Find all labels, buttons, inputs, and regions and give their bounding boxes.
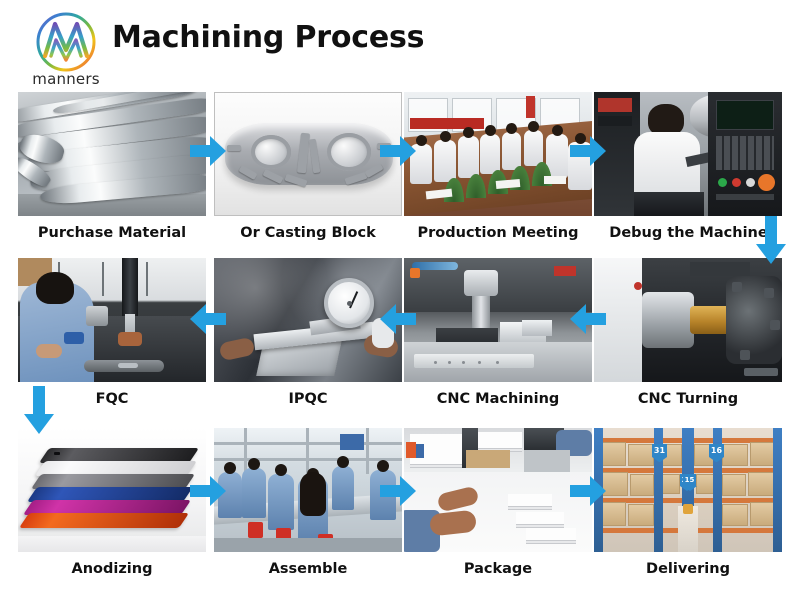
process-step-assemble[interactable]: Assemble xyxy=(214,428,402,577)
process-step-package[interactable]: Package xyxy=(404,428,592,577)
step-label: Package xyxy=(404,561,592,577)
process-step-cnc-machining[interactable]: CNC Machining xyxy=(404,258,592,407)
step-label: Purchase Material xyxy=(18,225,206,241)
photo-warehouse-racking: 31 30 15 16 xyxy=(594,428,782,552)
step-label: Anodizing xyxy=(18,561,206,577)
step-label: CNC Machining xyxy=(404,391,592,407)
step-label: Or Casting Block xyxy=(214,225,402,241)
photo-operator-at-cnc-control-panel xyxy=(594,92,782,216)
rack-tag: 31 xyxy=(652,444,667,457)
photo-cnc-lathe-turning xyxy=(594,258,782,382)
photo-steel-bars-stock xyxy=(18,92,206,216)
arrow-right-icon xyxy=(570,134,606,168)
photo-packaging-station xyxy=(404,428,592,552)
arrow-left-icon xyxy=(570,302,606,336)
photo-final-quality-control-inspection xyxy=(18,258,206,382)
step-label: CNC Turning xyxy=(594,391,782,407)
process-step-delivering[interactable]: 31 30 15 16 Delivering xyxy=(594,428,782,577)
page-title: Machining Process xyxy=(112,20,424,55)
process-row-3: Anodizing xyxy=(0,428,800,588)
step-label: Delivering xyxy=(594,561,782,577)
arrow-down-icon xyxy=(22,386,56,434)
arrow-right-icon xyxy=(190,134,226,168)
process-step-casting-block[interactable]: Or Casting Block xyxy=(214,92,402,241)
rack-tag: 15 xyxy=(683,474,696,486)
arrow-right-icon xyxy=(380,134,416,168)
step-label: IPQC xyxy=(214,391,402,407)
page-header: manners Machining Process xyxy=(0,0,800,90)
process-step-ipqc[interactable]: IPQC xyxy=(214,258,402,407)
arrow-right-icon xyxy=(570,474,606,508)
photo-dial-gauge-measurement xyxy=(214,258,402,382)
process-step-anodizing[interactable]: Anodizing xyxy=(18,428,206,577)
arrow-left-icon xyxy=(190,302,226,336)
photo-anodized-color-plates xyxy=(18,428,206,552)
process-step-production-meeting[interactable]: Production Meeting xyxy=(404,92,592,241)
process-row-1: Purchase Material Or Castin xyxy=(0,92,800,252)
process-row-2: FQC IPQC xyxy=(0,258,800,420)
rack-tag: 16 xyxy=(709,444,724,457)
arrow-down-icon xyxy=(754,216,788,264)
photo-aluminum-casting-block xyxy=(214,92,402,216)
step-label: Production Meeting xyxy=(404,225,592,241)
photo-cnc-milling-machine xyxy=(404,258,592,382)
photo-factory-meeting-room xyxy=(404,92,592,216)
process-step-cnc-turning[interactable]: CNC Turning xyxy=(594,258,782,407)
process-step-purchase-material[interactable]: Purchase Material xyxy=(18,92,206,241)
photo-assembly-line-workers xyxy=(214,428,402,552)
step-label: Assemble xyxy=(214,561,402,577)
manners-circle-m-logo-icon xyxy=(34,10,98,74)
arrow-right-icon xyxy=(380,474,416,508)
arrow-right-icon xyxy=(190,474,226,508)
process-step-fqc[interactable]: FQC xyxy=(18,258,206,407)
brand-logo: manners xyxy=(20,10,112,88)
arrow-left-icon xyxy=(380,302,416,336)
